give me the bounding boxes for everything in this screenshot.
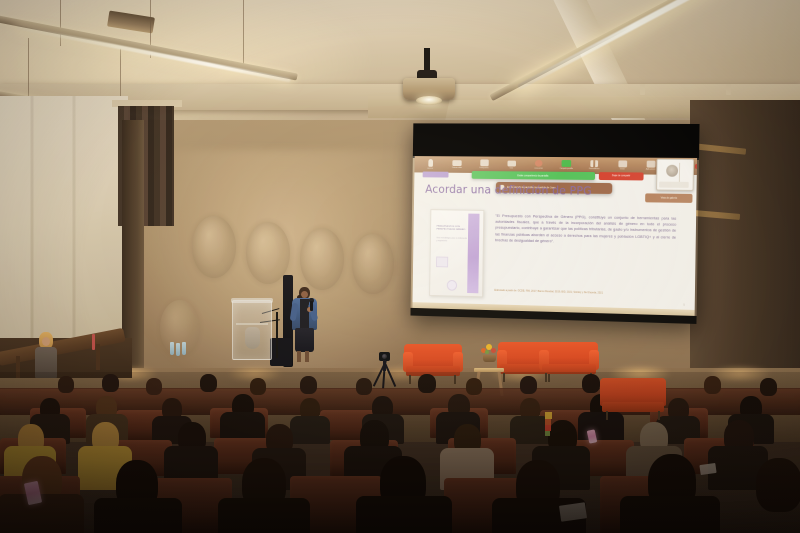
audience-head xyxy=(520,376,537,394)
book-cover-thumbnail xyxy=(436,257,448,268)
presenter xyxy=(291,287,317,363)
presenter-shirt xyxy=(300,299,309,329)
pause-icon xyxy=(590,161,598,168)
slide-quote-block: "El Presupuesto con Perspectiva de Géner… xyxy=(495,213,676,247)
slide-quote-source: Elaborado a partir de: OCDE; FMI, 2017; … xyxy=(494,289,675,297)
audience-body xyxy=(290,416,330,444)
ceiling-sensor xyxy=(640,84,645,95)
toolbar-reactions-button[interactable]: Reacciones xyxy=(526,160,551,170)
audience-head xyxy=(760,378,777,396)
audience-head xyxy=(356,378,372,395)
audience-head xyxy=(466,378,482,395)
lectern-ledge xyxy=(231,298,273,303)
toolbar-label: Compartir pantalla xyxy=(560,168,573,170)
acrylic-lectern xyxy=(232,300,272,360)
toolbar-label: Participantes xyxy=(479,167,488,169)
toolbar-label: Pausar/Anotar xyxy=(589,168,599,170)
slide-title: Acordar una definición de PPG xyxy=(425,182,592,198)
camera-icon xyxy=(452,160,461,166)
participant-name-bar xyxy=(659,182,689,188)
participant-thumbnail[interactable] xyxy=(656,159,694,191)
screen-share-banner: Estás compartiendo la pantalla xyxy=(472,171,595,180)
projection-screen: Silenciar Detener video Participantes Ch… xyxy=(410,123,699,324)
toolbar-pause-button[interactable]: Pausar/Anotar xyxy=(582,160,607,170)
audience-body xyxy=(94,498,182,533)
audience-head xyxy=(418,374,436,393)
toolbar-label: Reacciones xyxy=(534,168,542,170)
light-hanger xyxy=(243,0,244,70)
toolbar-label: Aplicaciones xyxy=(646,169,655,171)
floral-arrangement xyxy=(545,404,571,424)
stop-sharing-button[interactable]: Dejar de compartir xyxy=(599,172,644,180)
presenter-face xyxy=(301,291,308,298)
avatar xyxy=(666,165,678,177)
chat-icon xyxy=(507,160,516,166)
camera-lens-icon xyxy=(382,354,387,359)
chair-leg xyxy=(606,411,608,420)
water-shelf xyxy=(168,342,190,370)
audience xyxy=(0,372,800,533)
gallery-view-button[interactable]: Vista de galería xyxy=(645,193,692,203)
audience-head xyxy=(582,374,600,393)
microphone-icon xyxy=(428,159,433,167)
audience-head xyxy=(102,374,119,392)
title-accent-bar xyxy=(423,172,449,178)
oval-acoustic-panel xyxy=(192,216,236,278)
stop-sharing-label: Dejar de compartir xyxy=(612,175,630,177)
audience-head xyxy=(756,458,800,512)
screen-top-border xyxy=(413,123,700,160)
audience-body xyxy=(218,498,310,533)
railing-post xyxy=(96,344,100,370)
toolbar-label: Chat xyxy=(509,167,512,169)
toolbar-participants-button[interactable]: Participantes xyxy=(472,160,496,170)
floral-arrangement xyxy=(478,344,500,362)
toolbar-label: Grabar xyxy=(620,169,625,171)
book-cover-title: PRESUPUESTOS CON PERSPECTIVA DE GÉNERO xyxy=(437,226,469,232)
projector-lens xyxy=(416,96,442,105)
left-wall-panels xyxy=(0,96,128,366)
apps-icon xyxy=(646,161,655,168)
participants-icon xyxy=(480,160,489,167)
presenter-skirt xyxy=(295,328,314,352)
light-hanger xyxy=(60,0,61,46)
audience-body xyxy=(356,496,452,533)
book-cover-image: PRESUPUESTOS CON PERSPECTIVA DE GÉNERO G… xyxy=(429,209,484,297)
audience-body xyxy=(0,494,84,533)
slide-page-number: 5 xyxy=(683,303,685,307)
leave-meeting-button[interactable]: Salir xyxy=(695,164,697,169)
audience-head xyxy=(704,376,721,394)
audience-head xyxy=(146,378,162,395)
audience-head xyxy=(250,378,266,395)
reactions-icon xyxy=(535,160,543,167)
toolbar-mute-button[interactable]: Silenciar xyxy=(418,159,442,170)
book-cover-band xyxy=(467,214,479,294)
audience-head xyxy=(200,374,217,392)
handheld-microphone xyxy=(310,301,313,311)
gallery-view-label: Vista de galería xyxy=(661,197,677,200)
toolbar-chat-button[interactable]: Chat xyxy=(499,160,524,169)
toolbar-label: Detener video xyxy=(452,167,462,169)
lectern-shelf xyxy=(236,323,268,325)
toolbar-record-button[interactable]: Grabar xyxy=(610,161,635,172)
audience-head xyxy=(300,376,317,394)
water-bottle xyxy=(170,342,174,355)
face xyxy=(42,337,50,346)
presenter-leg xyxy=(297,351,301,362)
flower-basket xyxy=(545,404,560,412)
wall-marking xyxy=(92,334,95,350)
projected-image: Silenciar Detener video Participantes Ch… xyxy=(412,156,697,312)
stage-armchair xyxy=(600,378,666,422)
water-jug xyxy=(245,327,260,349)
water-bottle xyxy=(182,342,186,355)
toolbar-label: Silenciar xyxy=(427,168,433,170)
stage-monitor xyxy=(270,338,292,366)
chair-seat xyxy=(602,402,664,412)
share-screen-icon xyxy=(562,160,572,167)
slide-quote-text: "El Presupuesto con Perspectiva de Géner… xyxy=(495,213,676,247)
auditorium-photo: Silenciar Detener video Participantes Ch… xyxy=(0,0,800,533)
oval-acoustic-panel xyxy=(300,228,344,290)
book-cover-logo xyxy=(447,280,457,291)
audience-body xyxy=(620,496,720,533)
flower xyxy=(545,431,550,436)
chair-leg xyxy=(658,411,660,420)
flower-basket xyxy=(483,355,496,362)
ceiling-sensor xyxy=(726,84,731,95)
presenter-leg xyxy=(305,351,309,362)
toolbar-share-screen-button[interactable]: Compartir pantalla xyxy=(554,160,579,170)
toolbar-video-button[interactable]: Detener video xyxy=(445,160,469,169)
audience-body xyxy=(510,416,550,444)
screen-share-banner-text: Estás compartiendo la pantalla xyxy=(517,174,548,177)
oval-acoustic-panel xyxy=(352,234,394,294)
flower xyxy=(545,412,552,419)
audience-head xyxy=(58,376,74,393)
water-bottle xyxy=(176,343,180,356)
flower xyxy=(485,350,489,354)
wall-corner-shadow xyxy=(122,120,144,370)
record-icon xyxy=(618,161,627,168)
flower xyxy=(491,348,496,353)
book-cover-subtitle: Guía metodológica para su elaboración y … xyxy=(436,237,468,243)
